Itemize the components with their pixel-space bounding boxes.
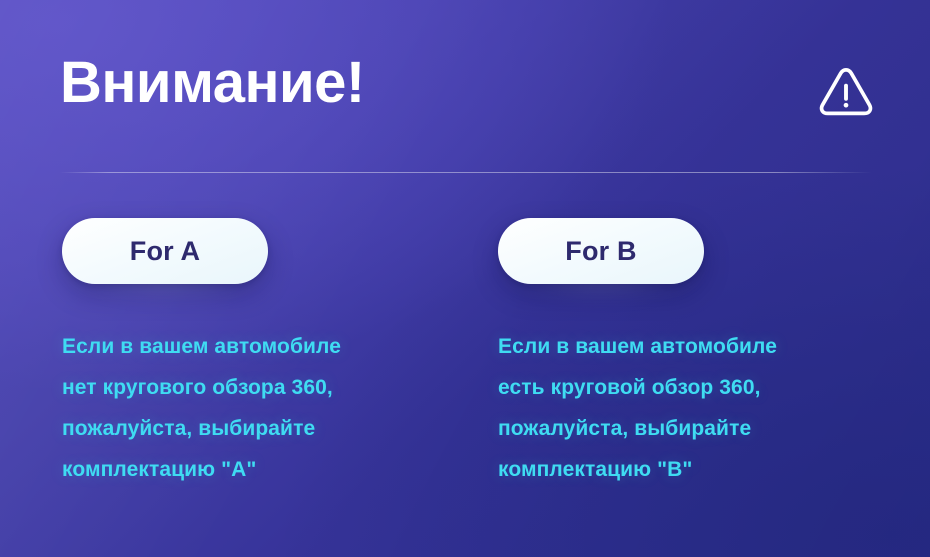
option-a-column: For A Если в вашем автомобиле нет кругов… [62,218,462,490]
option-b-line-1: Если в вашем автомобиле [498,326,858,367]
poster-content: Внимание! For A [0,0,930,557]
option-a-line-4: комплектацию "A" [62,449,422,490]
for-b-button-label: For B [565,238,637,265]
option-b-pill-wrap: For B [498,218,704,284]
warning-poster: Внимание! For A [0,0,930,557]
option-a-description: Если в вашем автомобиле нет кругового об… [62,326,422,490]
for-b-button[interactable]: For B [498,218,704,284]
option-b-description: Если в вашем автомобиле есть круговой об… [498,326,858,490]
header-divider [60,172,872,173]
poster-header: Внимание! [60,52,880,134]
for-a-button-label: For A [130,238,201,265]
option-a-line-1: Если в вашем автомобиле [62,326,422,367]
option-a-line-2: нет кругового обзора 360, [62,367,422,408]
option-a-pill-wrap: For A [62,218,268,284]
for-a-button[interactable]: For A [62,218,268,284]
option-b-line-3: пожалуйста, выбирайте [498,408,858,449]
option-a-line-3: пожалуйста, выбирайте [62,408,422,449]
option-b-column: For B Если в вашем автомобиле есть круго… [498,218,898,490]
option-b-line-4: комплектацию "B" [498,449,858,490]
warning-triangle-icon [817,64,875,120]
option-b-line-2: есть круговой обзор 360, [498,367,858,408]
page-title: Внимание! [60,52,880,114]
